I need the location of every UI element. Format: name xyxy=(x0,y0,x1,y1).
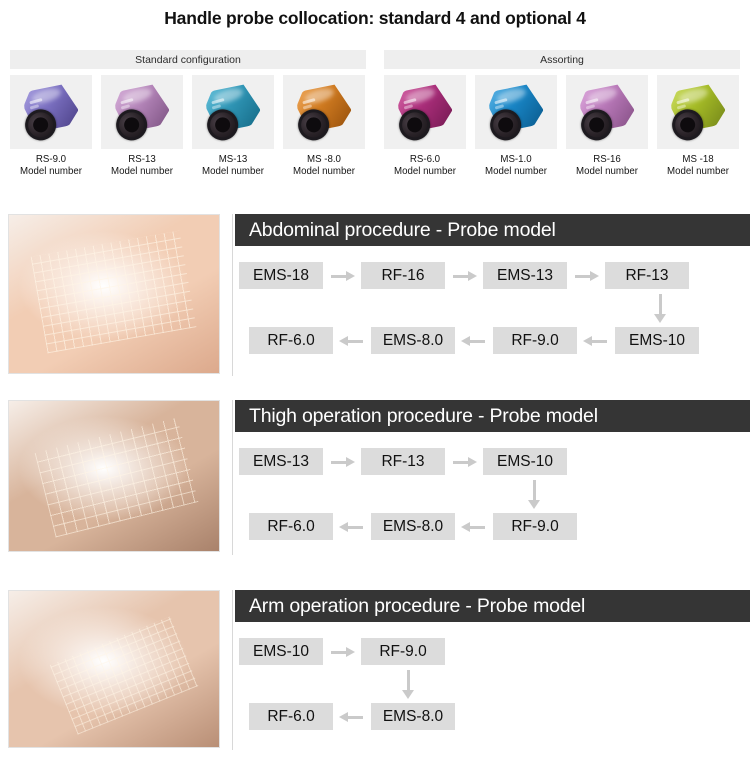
section-header-title: Thigh operation procedure - Probe model xyxy=(235,400,750,432)
probe-image-tile xyxy=(475,75,557,149)
probe-cell[interactable]: RS-16 Model number xyxy=(566,75,648,177)
flow-chip[interactable]: RF-6.0 xyxy=(249,513,333,540)
flow-diagram: EMS-10 RF-9.0 RF-6.0 EMS-8.0 xyxy=(235,622,750,748)
arrow-right-icon xyxy=(445,262,483,289)
probe-icon xyxy=(195,77,270,148)
section-header-title: Abdominal procedure - Probe model xyxy=(235,214,750,246)
flow-chip[interactable]: EMS-13 xyxy=(239,448,323,475)
page-title: Handle probe collocation: standard 4 and… xyxy=(0,8,750,29)
arrow-left-icon xyxy=(333,703,371,730)
probe-image-tile xyxy=(283,75,365,149)
treatment-grid-overlay xyxy=(31,231,197,354)
arrow-left-icon xyxy=(455,327,493,354)
probe-image-tile xyxy=(657,75,739,149)
arrow-down-icon xyxy=(400,668,416,702)
probe-cell[interactable]: MS -8.0 Model number xyxy=(283,75,365,177)
flow-chip[interactable]: EMS-8.0 xyxy=(371,703,455,730)
probe-group-banner: Standard configuration xyxy=(10,50,366,69)
probe-caption: RS-13 Model number xyxy=(101,154,183,177)
probe-model-number: MS-13 xyxy=(192,154,274,166)
arrow-down-icon xyxy=(652,292,668,326)
procedure-photo-abdominal xyxy=(8,214,220,374)
probe-cell[interactable]: MS-1.0 Model number xyxy=(475,75,557,177)
probe-model-sublabel: Model number xyxy=(657,166,739,178)
probe-image-tile xyxy=(566,75,648,149)
procedure-section-thigh: Thigh operation procedure - Probe model … xyxy=(0,400,750,560)
flow-chip[interactable]: EMS-8.0 xyxy=(371,513,455,540)
arrow-right-icon xyxy=(323,262,361,289)
probe-group-assorting: Assorting RS-6.0 Model number xyxy=(384,50,740,177)
flow-chip[interactable]: RF-6.0 xyxy=(249,703,333,730)
flow-chip[interactable]: EMS-10 xyxy=(483,448,567,475)
probe-model-number: RS-6.0 xyxy=(384,154,466,166)
flow-row-bottom: RF-6.0 EMS-8.0 RF-9.0 EMS-10 xyxy=(249,327,699,354)
probe-icon xyxy=(13,77,88,148)
arrow-right-icon xyxy=(567,262,605,289)
probe-model-sublabel: Model number xyxy=(384,166,466,178)
probe-image-tile xyxy=(384,75,466,149)
flow-row-bottom: RF-6.0 EMS-8.0 xyxy=(249,703,455,730)
probe-group-standard: Standard configuration RS-9.0 Model numb… xyxy=(10,50,366,177)
arrow-right-icon xyxy=(323,638,361,665)
flow-chip[interactable]: EMS-13 xyxy=(483,262,567,289)
arrow-right-icon xyxy=(445,448,483,475)
probe-model-number: MS -8.0 xyxy=(283,154,365,166)
probe-caption: MS -8.0 Model number xyxy=(283,154,365,177)
flow-chip[interactable]: EMS-8.0 xyxy=(371,327,455,354)
flow-diagram: EMS-13 RF-13 EMS-10 RF-6.0 EMS-8.0 RF-9.… xyxy=(235,432,750,554)
procedure-flow-arm: Arm operation procedure - Probe model EM… xyxy=(232,590,750,750)
flow-chip[interactable]: RF-9.0 xyxy=(493,327,577,354)
probe-row: RS-9.0 Model number RS-13 Model number xyxy=(10,75,366,177)
probe-model-number: RS-13 xyxy=(101,154,183,166)
probe-model-number: RS-9.0 xyxy=(10,154,92,166)
arrow-down-icon xyxy=(526,478,542,512)
probe-cell[interactable]: MS -18 Model number xyxy=(657,75,739,177)
probe-model-number: MS-1.0 xyxy=(475,154,557,166)
flow-chip[interactable]: RF-9.0 xyxy=(493,513,577,540)
probe-model-sublabel: Model number xyxy=(283,166,365,178)
flow-diagram: EMS-18 RF-16 EMS-13 RF-13 RF-6.0 EMS-8.0… xyxy=(235,246,750,374)
probe-model-sublabel: Model number xyxy=(101,166,183,178)
arrow-left-icon xyxy=(455,513,493,540)
flow-chip[interactable]: RF-13 xyxy=(605,262,689,289)
probe-image-tile xyxy=(10,75,92,149)
procedure-flow-thigh: Thigh operation procedure - Probe model … xyxy=(232,400,750,555)
probe-cell[interactable]: RS-9.0 Model number xyxy=(10,75,92,177)
probe-icon xyxy=(286,77,361,148)
probe-caption: MS-13 Model number xyxy=(192,154,274,177)
probe-caption: MS-1.0 Model number xyxy=(475,154,557,177)
probe-model-number: RS-16 xyxy=(566,154,648,166)
arrow-left-icon xyxy=(333,327,371,354)
flow-row-top: EMS-18 RF-16 EMS-13 RF-13 xyxy=(239,262,689,289)
probe-row: RS-6.0 Model number MS-1.0 Model number xyxy=(384,75,740,177)
probe-cell[interactable]: RS-13 Model number xyxy=(101,75,183,177)
probe-icon xyxy=(387,77,462,148)
probe-model-number: MS -18 xyxy=(657,154,739,166)
flow-chip[interactable]: EMS-18 xyxy=(239,262,323,289)
probe-caption: RS-6.0 Model number xyxy=(384,154,466,177)
flow-chip[interactable]: RF-13 xyxy=(361,448,445,475)
probe-icon xyxy=(569,77,644,148)
arrow-left-icon xyxy=(333,513,371,540)
probe-icon xyxy=(104,77,179,148)
flow-row-bottom: RF-6.0 EMS-8.0 RF-9.0 xyxy=(249,513,577,540)
flow-chip[interactable]: RF-9.0 xyxy=(361,638,445,665)
probe-group-banner: Assorting xyxy=(384,50,740,69)
probe-model-sublabel: Model number xyxy=(566,166,648,178)
procedure-section-abdominal: Abdominal procedure - Probe model EMS-18… xyxy=(0,214,750,382)
procedure-photo-thigh xyxy=(8,400,220,552)
flow-chip[interactable]: EMS-10 xyxy=(615,327,699,354)
arrow-left-icon xyxy=(577,327,615,354)
section-header-title: Arm operation procedure - Probe model xyxy=(235,590,750,622)
probe-caption: MS -18 Model number xyxy=(657,154,739,177)
probe-image-tile xyxy=(192,75,274,149)
treatment-grid-overlay xyxy=(34,418,198,538)
probe-model-sublabel: Model number xyxy=(475,166,557,178)
procedure-flow-abdominal: Abdominal procedure - Probe model EMS-18… xyxy=(232,214,750,376)
flow-chip[interactable]: EMS-10 xyxy=(239,638,323,665)
probe-cell[interactable]: MS-13 Model number xyxy=(192,75,274,177)
treatment-grid-overlay xyxy=(50,616,199,734)
probe-caption: RS-9.0 Model number xyxy=(10,154,92,177)
probe-icon xyxy=(478,77,553,148)
probe-cell[interactable]: RS-6.0 Model number xyxy=(384,75,466,177)
flow-chip[interactable]: RF-6.0 xyxy=(249,327,333,354)
probe-caption: RS-16 Model number xyxy=(566,154,648,177)
arrow-right-icon xyxy=(323,448,361,475)
flow-row-top: EMS-13 RF-13 EMS-10 xyxy=(239,448,567,475)
probe-image-tile xyxy=(101,75,183,149)
procedure-section-arm: Arm operation procedure - Probe model EM… xyxy=(0,590,750,755)
probe-icon xyxy=(660,77,735,148)
flow-chip[interactable]: RF-16 xyxy=(361,262,445,289)
probe-model-sublabel: Model number xyxy=(10,166,92,178)
probe-model-sublabel: Model number xyxy=(192,166,274,178)
flow-row-top: EMS-10 RF-9.0 xyxy=(239,638,445,665)
procedure-photo-arm xyxy=(8,590,220,748)
